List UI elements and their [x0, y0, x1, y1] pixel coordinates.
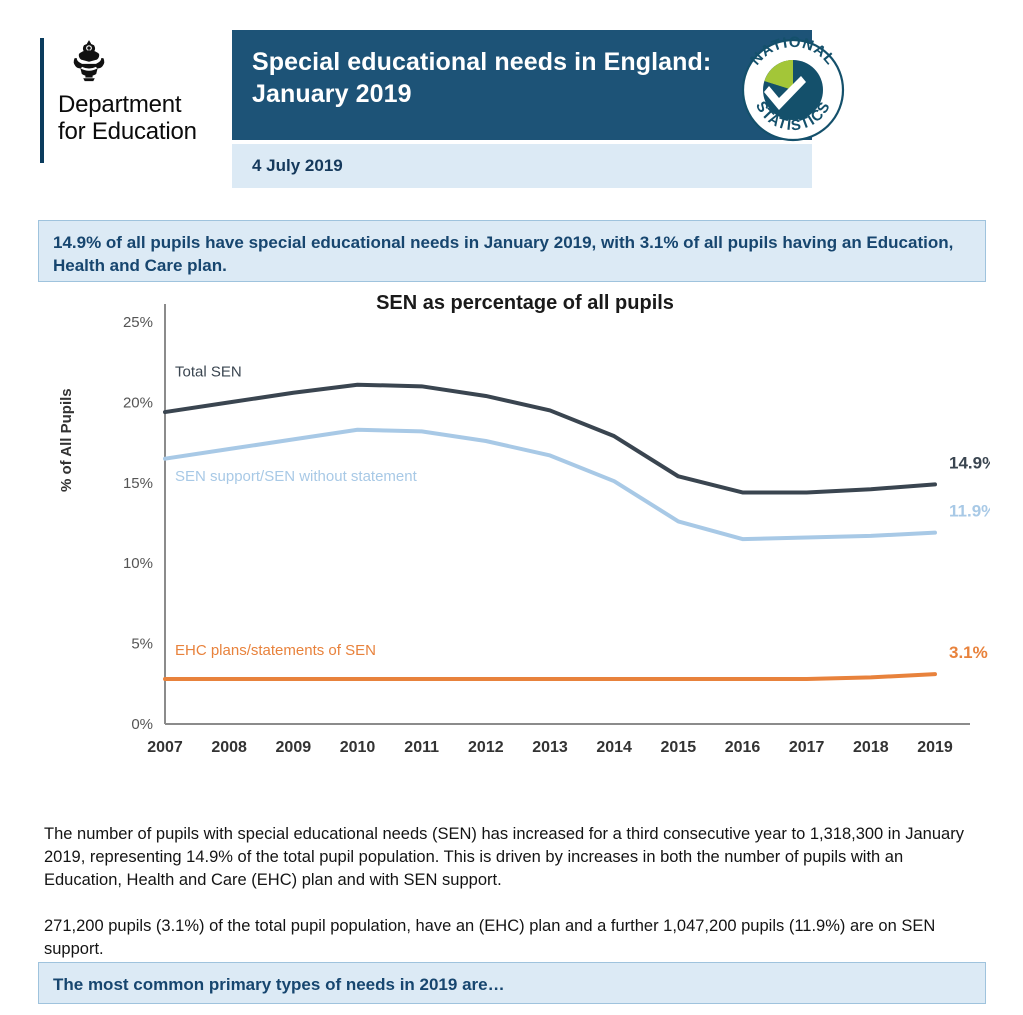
chart-x-tick-label: 2018 [853, 739, 889, 756]
key-finding-text: 14.9% of all pupils have special educati… [53, 231, 971, 277]
chart-series-label-0: Total SEN [175, 364, 242, 381]
chart-x-tick-label: 2014 [596, 739, 632, 756]
next-section-banner: The most common primary types of needs i… [38, 962, 986, 1004]
royal-crest-icon [66, 38, 112, 84]
dfe-name-line1: Department [58, 91, 230, 118]
chart-x-tick-label: 2010 [340, 739, 376, 756]
chart-x-tick-label: 2008 [211, 739, 247, 756]
chart-x-tick-label: 2019 [917, 739, 953, 756]
chart-plot-area: 0%5%10%15%20%25%200720082009201020112012… [60, 292, 990, 762]
chart-series-label-2: EHC plans/statements of SEN [175, 642, 376, 659]
chart-end-label-1: 11.9% [949, 502, 990, 521]
chart-x-tick-label: 2009 [276, 739, 312, 756]
chart-y-tick-label: 0% [131, 716, 153, 733]
chart-y-tick-label: 25% [123, 314, 153, 331]
page-header: Department for Education Special educati… [40, 30, 983, 190]
publication-title-bar: Special educational needs in England: Ja… [232, 30, 812, 140]
chart-series-line-2 [165, 674, 935, 679]
sen-percentage-chart: SEN as percentage of all pupils % of All… [60, 292, 990, 762]
publication-date: 4 July 2019 [252, 156, 792, 176]
publication-date-bar: 4 July 2019 [232, 144, 812, 188]
chart-y-tick-label: 20% [123, 394, 153, 411]
chart-x-tick-label: 2013 [532, 739, 568, 756]
body-paragraph-2: 271,200 pupils (3.1%) of the total pupil… [44, 915, 964, 961]
dfe-logo: Department for Education [40, 38, 230, 163]
next-section-text: The most common primary types of needs i… [53, 973, 971, 996]
chart-y-tick-label: 15% [123, 475, 153, 492]
chart-x-tick-label: 2007 [147, 739, 183, 756]
page-title-line2: January 2019 [252, 78, 792, 110]
national-statistics-logo: NATIONAL STATISTICS [733, 30, 853, 150]
dfe-name-line2: for Education [58, 118, 230, 145]
chart-end-label-0: 14.9% [949, 453, 990, 472]
chart-x-tick-label: 2015 [661, 739, 697, 756]
chart-x-tick-label: 2017 [789, 739, 825, 756]
chart-y-tick-label: 5% [131, 636, 153, 653]
chart-series-label-1: SEN support/SEN without statement [175, 468, 418, 485]
key-finding-banner: 14.9% of all pupils have special educati… [38, 220, 986, 282]
chart-y-tick-label: 10% [123, 555, 153, 572]
body-paragraph-1: The number of pupils with special educat… [44, 823, 964, 892]
chart-x-tick-label: 2012 [468, 739, 504, 756]
chart-end-label-2: 3.1% [949, 643, 988, 662]
chart-x-tick-label: 2016 [725, 739, 761, 756]
page-title-line1: Special educational needs in England: [252, 46, 792, 78]
chart-x-tick-label: 2011 [404, 739, 439, 756]
